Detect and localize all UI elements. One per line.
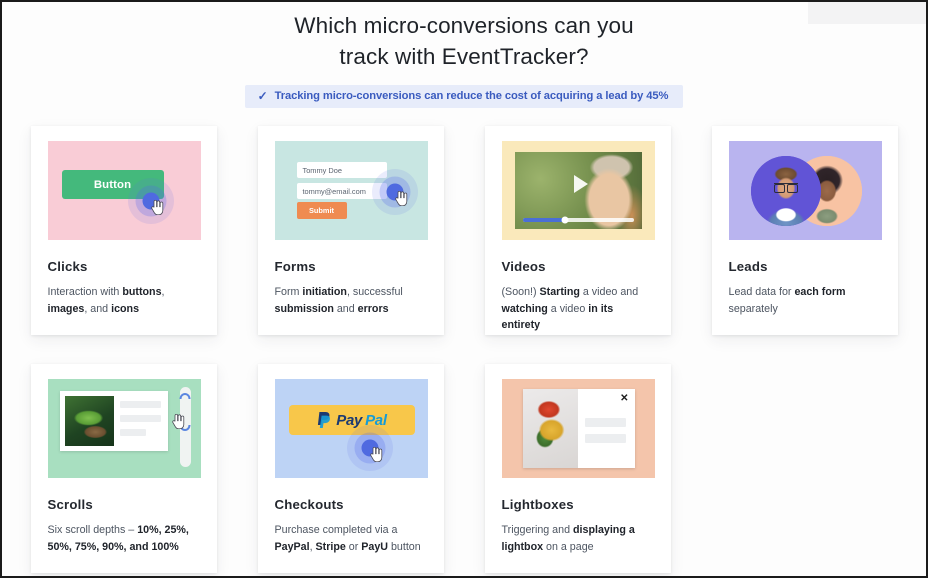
card-title-leads: Leads [729, 259, 881, 274]
skeleton-line [120, 401, 161, 408]
cursor-hand-icon [172, 414, 185, 429]
glasses-icon [774, 183, 798, 191]
video-progress-fill [523, 218, 565, 222]
card-desc-scrolls: Six scroll depths – 10%, 25%, 50%, 75%, … [48, 522, 200, 555]
info-banner: ✓ Tracking micro-conversions can reduce … [245, 85, 684, 108]
videos-thumbnail [502, 141, 655, 240]
card-desc-clicks: Interaction with buttons, images, and ic… [48, 284, 200, 317]
video-frame [515, 152, 642, 229]
info-banner-text: Tracking micro-conversions can reduce th… [275, 90, 669, 102]
leads-thumbnail [729, 141, 882, 240]
skeleton-line [120, 429, 146, 436]
card-title-scrolls: Scrolls [48, 497, 200, 512]
play-icon [574, 175, 588, 193]
video-progress-knob [561, 217, 568, 224]
cursor-hand-icon [395, 191, 408, 206]
form-submit-button: Submit [297, 202, 347, 219]
avatar-male [751, 156, 821, 226]
card-clicks[interactable]: Button Clicks Interaction with buttons, … [31, 126, 217, 335]
paypal-text-pay: Pay [336, 412, 362, 429]
cursor-hand-icon [370, 447, 383, 462]
video-progress-bar [523, 218, 634, 222]
card-title-checkouts: Checkouts [275, 497, 427, 512]
lightbox-modal-mock: ✕ [523, 389, 635, 468]
paypal-logo-icon [316, 411, 333, 430]
forms-thumbnail: Tommy Doe tommy@email.com Submit [275, 141, 428, 240]
card-title-clicks: Clicks [48, 259, 200, 274]
form-name-field: Tommy Doe [297, 162, 387, 178]
clicks-thumbnail: Button [48, 141, 201, 240]
card-desc-lightboxes: Triggering and displaying a lightbox on … [502, 522, 654, 555]
page-title-line-2: track with EventTracker? [339, 44, 588, 69]
skeleton-line [120, 415, 161, 422]
card-desc-checkouts: Purchase completed via a PayPal, Stripe … [275, 522, 427, 555]
scroll-page-mock [60, 391, 168, 451]
card-forms[interactable]: Tommy Doe tommy@email.com Submit Forms F… [258, 126, 444, 335]
banner-row: ✓ Tracking micro-conversions can reduce … [2, 85, 926, 108]
close-icon[interactable]: ✕ [620, 394, 628, 404]
card-desc-leads: Lead data for each form separately [729, 284, 881, 317]
card-videos[interactable]: Videos (Soon!) Starting a video and watc… [485, 126, 671, 335]
card-title-lightboxes: Lightboxes [502, 497, 654, 512]
lightbox-photo [523, 389, 578, 468]
page-content: Which micro-conversions can you track wi… [2, 2, 926, 573]
card-desc-videos: (Soon!) Starting a video and watching a … [502, 284, 654, 334]
screenshot-frame: Which micro-conversions can you track wi… [0, 0, 928, 578]
page-title: Which micro-conversions can you track wi… [2, 6, 926, 72]
card-leads[interactable]: Leads Lead data for each form separately [712, 126, 898, 335]
scrolls-thumbnail [48, 379, 201, 478]
card-desc-forms: Form initiation, successful submission a… [275, 284, 427, 317]
lightboxes-thumbnail: ✕ [502, 379, 655, 478]
skeleton-line [585, 418, 626, 427]
skeleton-line [585, 434, 626, 443]
check-icon: ✓ [258, 90, 268, 102]
card-title-videos: Videos [502, 259, 654, 274]
paypal-button: PayPal [289, 405, 415, 435]
card-lightboxes[interactable]: ✕ Lightboxes Triggering and displaying a… [485, 364, 671, 573]
card-scrolls[interactable]: Scrolls Six scroll depths – 10%, 25%, 50… [31, 364, 217, 573]
page-title-line-1: Which micro-conversions can you [294, 13, 633, 38]
checkouts-thumbnail: PayPal [275, 379, 428, 478]
cards-grid: Button Clicks Interaction with buttons, … [2, 126, 926, 573]
scroll-up-indicator [180, 393, 191, 399]
card-checkouts[interactable]: PayPal Checkouts Purchase completed via … [258, 364, 444, 573]
scroll-photo [65, 396, 114, 446]
cursor-hand-icon [151, 200, 164, 215]
card-title-forms: Forms [275, 259, 427, 274]
